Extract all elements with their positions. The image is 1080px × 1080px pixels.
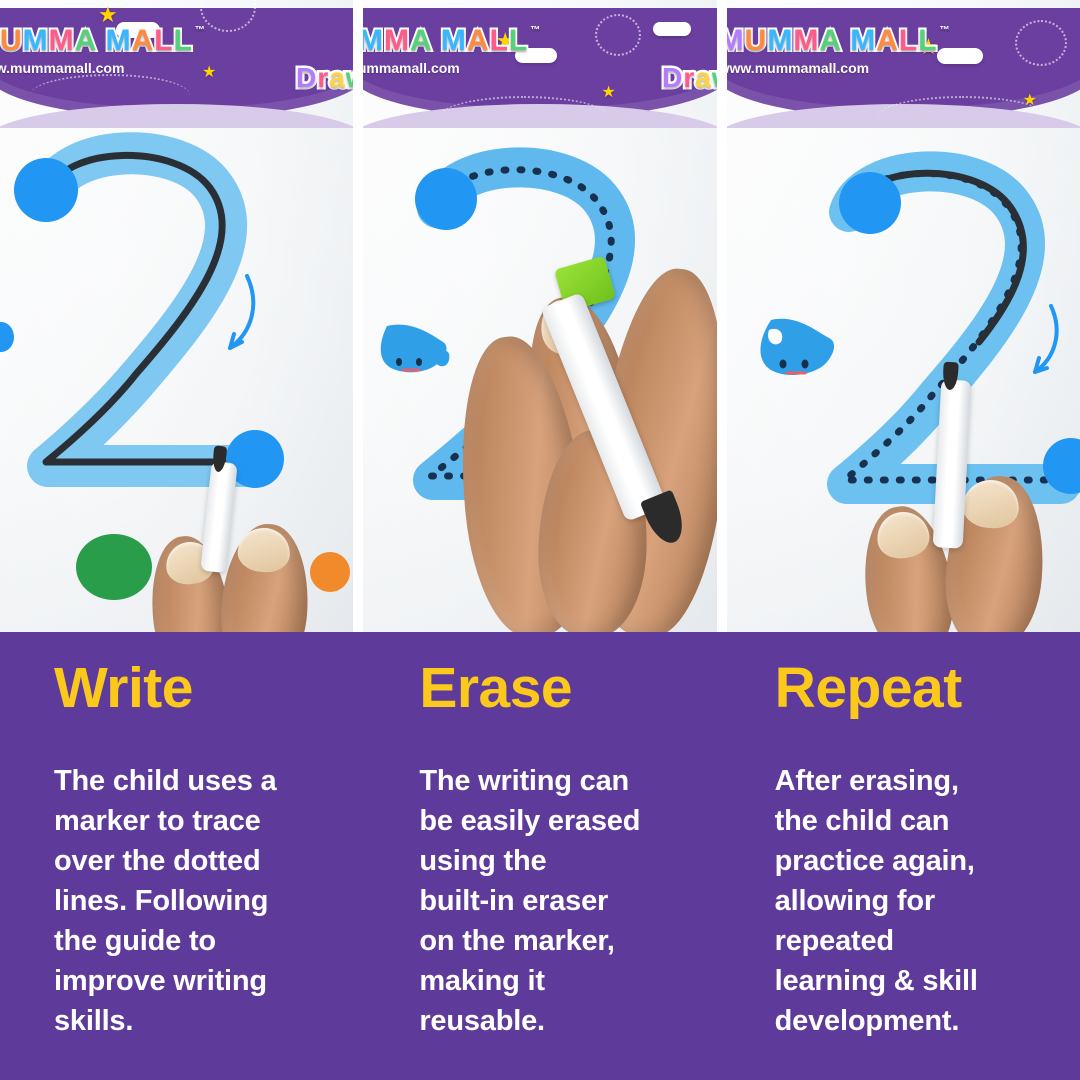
trademark-symbol: ™ xyxy=(940,25,951,36)
dotted-hill-decor xyxy=(439,96,609,138)
direction-arrow-icon xyxy=(192,270,262,360)
dotted-circle-decor xyxy=(1015,20,1067,66)
brand-logo: MUMMA MALL™ www.mummamall.com xyxy=(363,26,541,75)
orange-sticker xyxy=(310,552,350,592)
step-card-write: Write The child uses a marker to trace o… xyxy=(0,632,359,1080)
banner-title: Draw xyxy=(662,62,717,94)
dotted-hill-decor xyxy=(30,74,190,116)
trademark-symbol: ™ xyxy=(530,25,541,36)
brand-logo: MUMMA MALL™ www.mummamall.com xyxy=(727,26,951,75)
brand-url: www.mummamall.com xyxy=(727,61,951,75)
cloud-icon xyxy=(653,22,691,36)
step-body-write: The child uses a marker to trace over th… xyxy=(54,761,335,1041)
step-card-repeat: Repeat After erasing, the child can prac… xyxy=(725,632,1080,1080)
dotted-hill-decor xyxy=(877,96,1047,138)
photo-panel-write: MUMMA MALL™ www.mummamall.com Draw Wi ★ … xyxy=(0,0,353,632)
banner-title: Draw Wi xyxy=(296,62,353,94)
start-dot xyxy=(14,158,78,222)
star-icon: ★ xyxy=(601,82,615,102)
promo-graphic: MUMMA MALL™ www.mummamall.com Draw Wi ★ … xyxy=(0,0,1080,1080)
start-dot xyxy=(839,172,901,234)
brand-url: www.mummamall.com xyxy=(0,61,206,75)
start-dot xyxy=(415,168,477,230)
photo-panel-repeat: MUMMA MALL™ www.mummamall.com D ★ ★ xyxy=(727,0,1080,632)
brand-logo: MUMMA MALL™ www.mummamall.com xyxy=(0,26,206,75)
step-heading-repeat: Repeat xyxy=(775,660,1056,717)
whale-sticker xyxy=(753,314,839,385)
dotted-circle-decor xyxy=(595,14,641,56)
photo-panel-erase: MUMMA MALL™ www.mummamall.com Draw ★ ★ xyxy=(363,0,716,632)
step-body-erase: The writing can be easily erased using t… xyxy=(419,761,700,1041)
step-card-erase: Erase The writing can be easily erased u… xyxy=(359,632,724,1080)
step-heading-write: Write xyxy=(54,660,335,717)
green-sticker xyxy=(76,534,152,600)
step-body-repeat: After erasing, the child can practice ag… xyxy=(775,761,1056,1041)
direction-arrow-icon xyxy=(1005,300,1067,380)
trademark-symbol: ™ xyxy=(195,25,206,36)
steps-panel: Write The child uses a marker to trace o… xyxy=(0,632,1080,1080)
brand-url: www.mummamall.com xyxy=(363,61,541,75)
step-heading-erase: Erase xyxy=(419,660,700,717)
photo-strip: MUMMA MALL™ www.mummamall.com Draw Wi ★ … xyxy=(0,0,1080,632)
whale-sticker xyxy=(373,318,451,381)
star-icon: ★ xyxy=(1023,90,1037,110)
